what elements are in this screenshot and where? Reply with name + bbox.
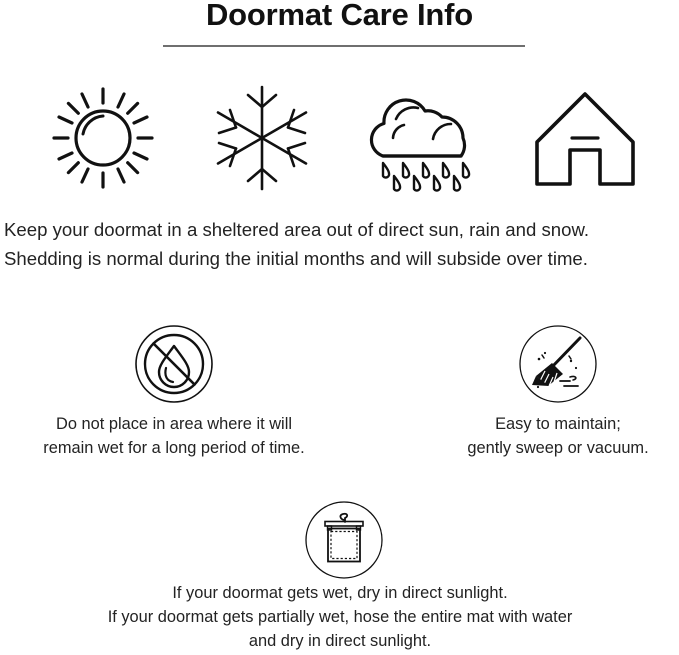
rain-cloud-icon bbox=[338, 72, 508, 196]
page-title: Doormat Care Info bbox=[0, 0, 679, 36]
intro-line-2: Shedding is normal during the initial mo… bbox=[4, 244, 679, 273]
maintain-caption: Easy to maintain; gently sweep or vacuum… bbox=[408, 412, 679, 460]
no-water-caption-line-2: remain wet for a long period of time. bbox=[24, 436, 324, 460]
title-underline-rule bbox=[163, 45, 525, 47]
dry-caption-line-3: and dry in direct sunlight. bbox=[20, 629, 660, 653]
no-water-icon bbox=[134, 324, 214, 409]
snowflake-icon bbox=[177, 72, 347, 196]
maintain-caption-line-1: Easy to maintain; bbox=[408, 412, 679, 436]
sun-icon bbox=[18, 72, 188, 196]
page-title-block: Doormat Care Info bbox=[0, 0, 679, 36]
intro-paragraph: Keep your doormat in a sheltered area ou… bbox=[4, 215, 679, 273]
dry-caption-line-1: If your doormat gets wet, dry in direct … bbox=[20, 581, 660, 605]
maintain-caption-line-2: gently sweep or vacuum. bbox=[408, 436, 679, 460]
no-water-caption: Do not place in area where it will remai… bbox=[24, 412, 324, 460]
broom-sweep-icon bbox=[518, 324, 598, 409]
dry-caption-line-2: If your doormat gets partially wet, hose… bbox=[20, 605, 660, 629]
dry-instructions-caption: If your doormat gets wet, dry in direct … bbox=[20, 581, 660, 653]
no-water-caption-line-1: Do not place in area where it will bbox=[24, 412, 324, 436]
intro-line-1: Keep your doormat in a sheltered area ou… bbox=[4, 215, 679, 244]
hang-to-dry-icon bbox=[304, 500, 384, 585]
weather-icon-row bbox=[0, 72, 679, 196]
house-shelter-icon bbox=[500, 72, 670, 196]
